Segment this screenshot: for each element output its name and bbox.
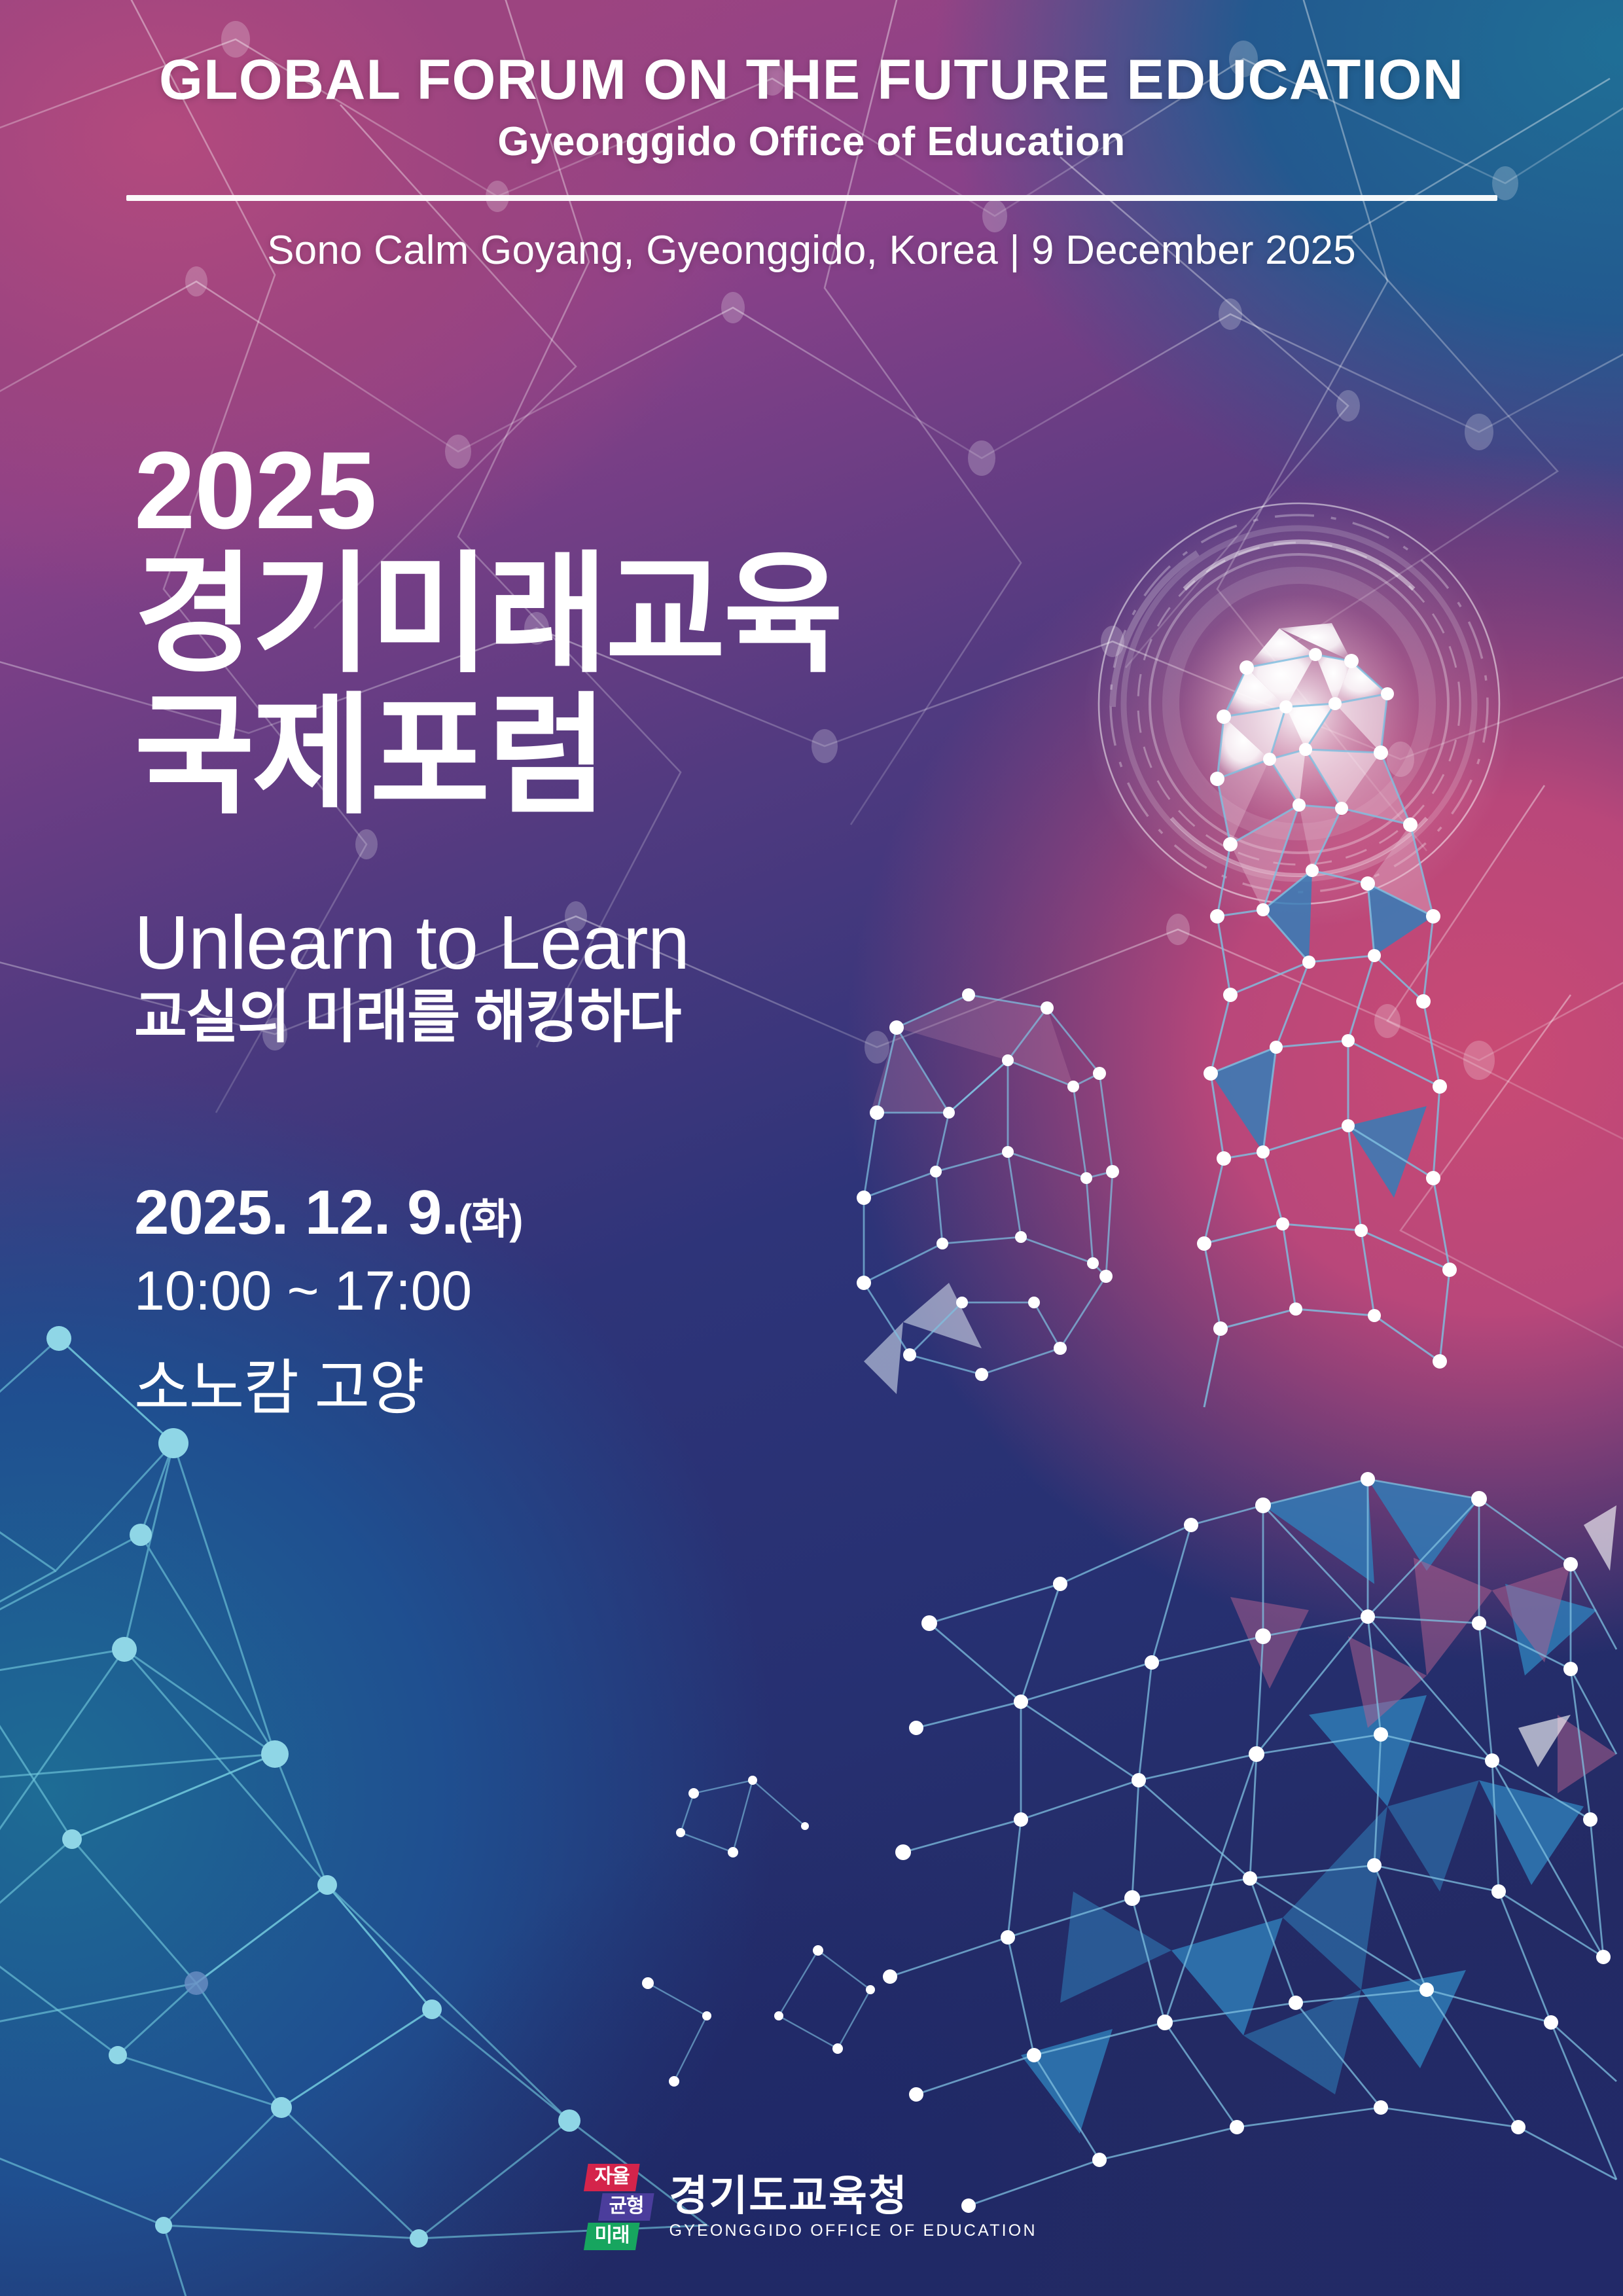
poster-header: GLOBAL FORUM ON THE FUTURE EDUCATION Gye… [0, 51, 1623, 274]
logo-name-en: GYEONGGIDO OFFICE OF EDUCATION [669, 2223, 1037, 2239]
slogan-ko: 교실의 미래를 해킹하다 [134, 988, 681, 1046]
forum-title-en: GLOBAL FORUM ON THE FUTURE EDUCATION [0, 51, 1623, 109]
logo-name-ko: 경기도교육청 [669, 2175, 1037, 2217]
organization-logo: 자율 균형 미래 경기도교육청 GYEONGGIDO OFFICE OF EDU… [586, 2164, 1037, 2250]
badge-future-label: 미래 [594, 2226, 629, 2246]
logo-badges: 자율 균형 미래 [586, 2164, 652, 2250]
badge-balance-label: 균형 [609, 2197, 643, 2216]
forum-title-ko-line1: 경기미래교육 [134, 542, 841, 688]
event-date-value: 2025. 12. 9. [134, 1177, 458, 1247]
badge-autonomy-label: 자율 [594, 2167, 629, 2187]
event-time: 10:00 ~ 17:00 [134, 1263, 472, 1318]
venue-date-en: Sono Calm Goyang, Gyeonggido, Korea | 9 … [0, 227, 1623, 274]
badge-autonomy: 자율 [584, 2164, 640, 2191]
poster: GLOBAL FORUM ON THE FUTURE EDUCATION Gye… [0, 0, 1623, 2296]
event-venue: 소노캄 고양 [134, 1358, 424, 1418]
event-date: 2025. 12. 9.(화) [134, 1181, 523, 1244]
forum-title-ko: 경기미래교육 국제포럼 [134, 545, 841, 827]
badge-future: 미래 [584, 2223, 640, 2250]
forum-title-ko-line2: 국제포럼 [134, 686, 841, 827]
organizer-name-en: Gyeonggido Office of Education [0, 118, 1623, 165]
event-day-of-week: (화) [458, 1196, 523, 1243]
slogan-en: Unlearn to Learn [134, 905, 689, 980]
header-divider [126, 195, 1497, 201]
event-year: 2025 [134, 435, 376, 545]
logo-wordmark: 경기도교육청 GYEONGGIDO OFFICE OF EDUCATION [669, 2175, 1037, 2239]
badge-balance: 균형 [598, 2193, 654, 2221]
